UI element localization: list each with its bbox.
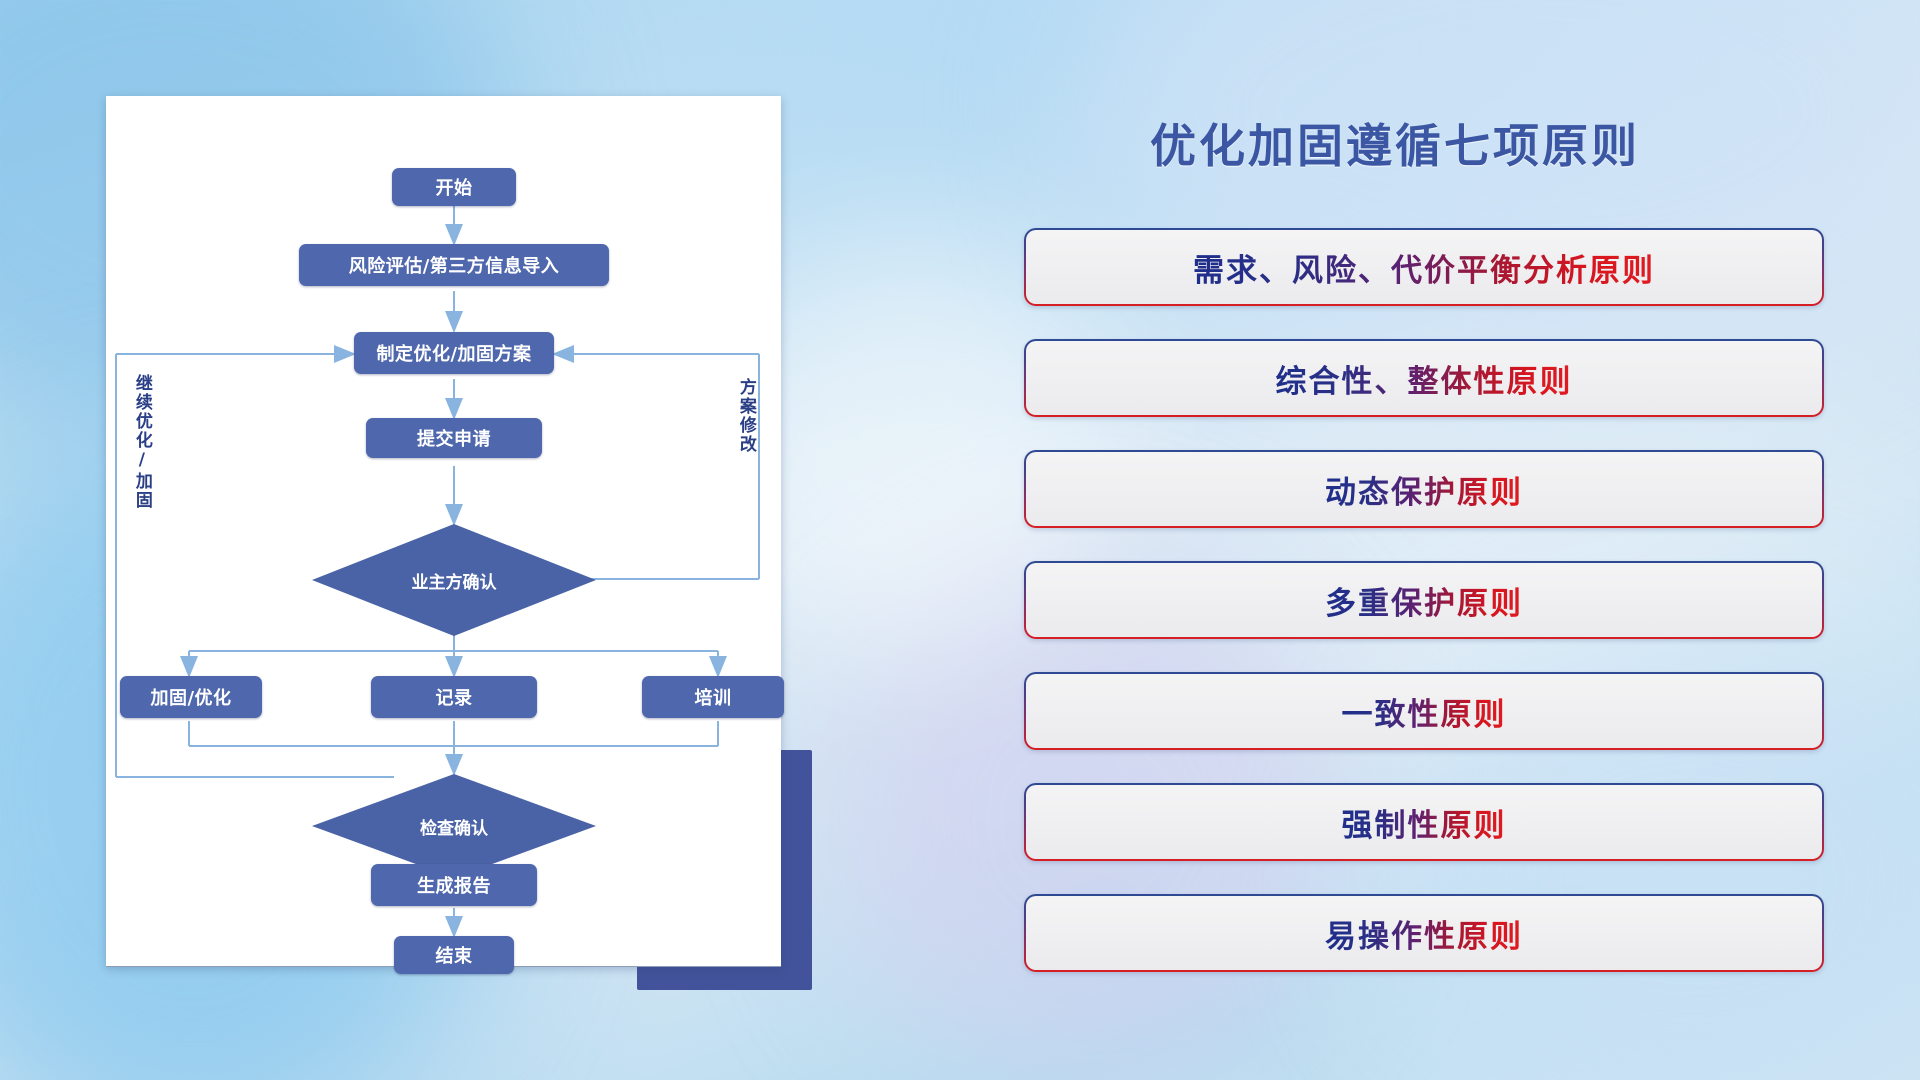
principle-label: 综合性、整体性原则 <box>1276 356 1573 401</box>
principles-region: 优化加固遵循七项原则 需求、风险、代价平衡分析原则 综合性、整体性原则 动态保护… <box>1000 0 1920 1080</box>
flowchart-card: 开始 风险评估/第三方信息导入 制定优化/加固方案 提交申请 业主方确认 加固/… <box>106 96 781 966</box>
flow-node-check-confirm-label: 检查确认 <box>420 814 488 839</box>
flow-node-check-confirm[interactable]: 检查确认 <box>312 774 596 878</box>
flow-node-plan[interactable]: 制定优化/加固方案 <box>354 332 554 374</box>
principle-card-inner: 综合性、整体性原则 <box>1026 341 1822 415</box>
principle-card[interactable]: 需求、风险、代价平衡分析原则 <box>1024 228 1824 306</box>
principle-card-inner: 需求、风险、代价平衡分析原则 <box>1026 230 1822 304</box>
flow-node-start[interactable]: 开始 <box>392 168 516 206</box>
principle-label: 强制性原则 <box>1342 800 1507 845</box>
principle-card[interactable]: 易操作性原则 <box>1024 894 1824 972</box>
flowchart-region: 开始 风险评估/第三方信息导入 制定优化/加固方案 提交申请 业主方确认 加固/… <box>0 0 900 1080</box>
principle-label: 动态保护原则 <box>1325 467 1523 512</box>
principle-label: 需求、风险、代价平衡分析原则 <box>1193 245 1655 290</box>
principle-label: 易操作性原则 <box>1325 911 1523 956</box>
principle-card-inner: 强制性原则 <box>1026 785 1822 859</box>
principle-label: 多重保护原则 <box>1325 578 1523 623</box>
principle-card[interactable]: 多重保护原则 <box>1024 561 1824 639</box>
principle-card-inner: 多重保护原则 <box>1026 563 1822 637</box>
flow-node-end[interactable]: 结束 <box>394 936 514 974</box>
flow-node-submit[interactable]: 提交申请 <box>366 418 542 458</box>
flow-node-record[interactable]: 记录 <box>371 676 537 718</box>
principle-card[interactable]: 一致性原则 <box>1024 672 1824 750</box>
flow-node-owner-confirm[interactable]: 业主方确认 <box>312 524 596 636</box>
flow-edge-label-right-loop: 方案修改 <box>736 378 754 508</box>
principle-card-inner: 一致性原则 <box>1026 674 1822 748</box>
principle-card[interactable]: 动态保护原则 <box>1024 450 1824 528</box>
principle-label: 一致性原则 <box>1342 689 1507 734</box>
page-title: 优化加固遵循七项原则 <box>1150 110 1640 176</box>
flow-node-reinforce[interactable]: 加固/优化 <box>120 676 262 718</box>
flow-edge-label-left-loop: 继续优化/加固 <box>132 374 150 564</box>
flow-node-training[interactable]: 培训 <box>642 676 784 718</box>
flow-node-report[interactable]: 生成报告 <box>371 864 537 906</box>
principle-card-inner: 易操作性原则 <box>1026 896 1822 970</box>
flow-node-risk-assessment[interactable]: 风险评估/第三方信息导入 <box>299 244 609 286</box>
principles-list: 需求、风险、代价平衡分析原则 综合性、整体性原则 动态保护原则 多重保护原则 一… <box>1024 228 1824 1005</box>
principle-card[interactable]: 强制性原则 <box>1024 783 1824 861</box>
flow-node-owner-confirm-label: 业主方确认 <box>412 568 497 593</box>
principle-card-inner: 动态保护原则 <box>1026 452 1822 526</box>
principle-card[interactable]: 综合性、整体性原则 <box>1024 339 1824 417</box>
